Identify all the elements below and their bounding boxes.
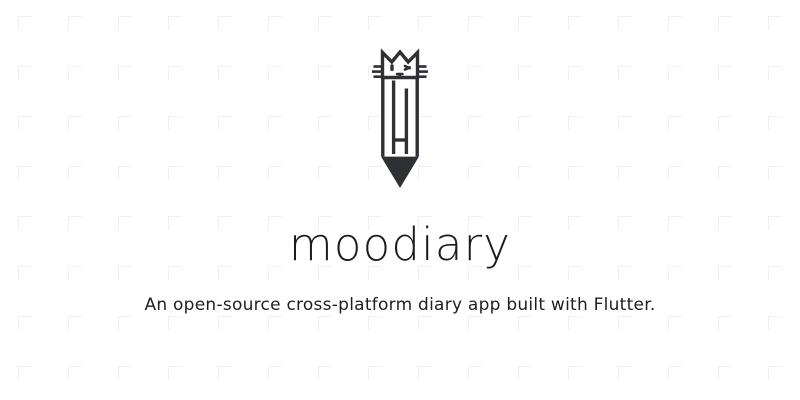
pencil-body-icon — [383, 78, 417, 157]
pencil-tip-icon — [381, 157, 419, 188]
project-banner: moodiary An open-source cross-platform d… — [0, 0, 800, 400]
cat-pencil-logo-icon — [369, 36, 431, 192]
h-monogram-icon — [394, 81, 407, 155]
tagline-text: An open-source cross-platform diary app … — [144, 297, 655, 314]
page-title: moodiary — [289, 222, 511, 267]
banner-content: moodiary An open-source cross-platform d… — [0, 0, 800, 400]
